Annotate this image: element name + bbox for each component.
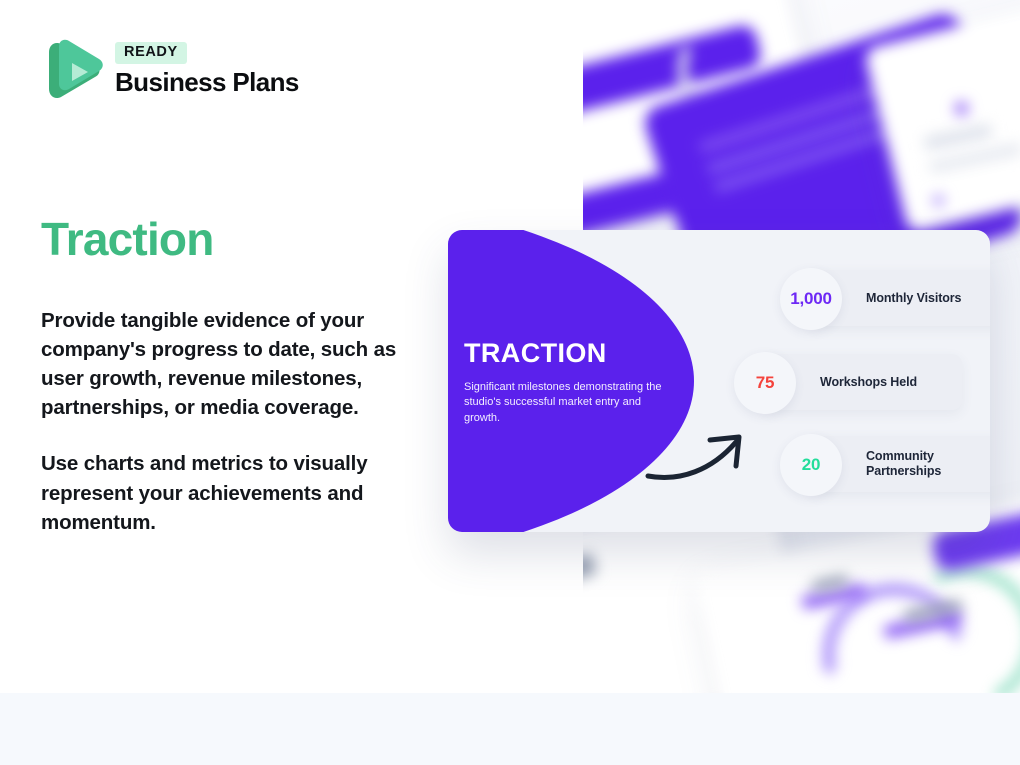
curved-arrow-up-right-icon <box>644 420 774 500</box>
stat-circle: 1,000 <box>780 268 842 330</box>
stat-label: Workshops Held <box>820 375 917 390</box>
stat-value: 75 <box>756 373 775 393</box>
traction-slide-card[interactable]: TRACTION Significant milestones demonstr… <box>448 230 990 532</box>
stat-label: Community Partnerships <box>866 449 941 479</box>
body-copy: Provide tangible evidence of your compan… <box>41 306 419 537</box>
purple-text-block: TRACTION Significant milestones demonstr… <box>464 340 674 426</box>
stat-circle: 20 <box>780 434 842 496</box>
stat-circle: 75 <box>734 352 796 414</box>
stat-label: Monthly Visitors <box>866 291 961 306</box>
bg-dot-decoration <box>955 102 968 115</box>
bg-dot-decoration <box>933 195 944 206</box>
body-paragraph-2: Use charts and metrics to visually repre… <box>41 449 419 536</box>
card-subtitle: Significant milestones demonstrating the… <box>464 380 674 426</box>
brand-logo-row[interactable]: READY Business Plans <box>41 36 299 102</box>
play-triangle-logo-icon <box>41 36 103 102</box>
bottom-band <box>0 693 1020 765</box>
ready-badge: READY <box>115 42 187 64</box>
brand-text: READY Business Plans <box>115 42 299 96</box>
brand-name: Business Plans <box>115 69 299 96</box>
body-paragraph-1: Provide tangible evidence of your compan… <box>41 306 419 422</box>
stat-value: 1,000 <box>790 289 832 309</box>
stat-value: 20 <box>802 455 821 475</box>
slide-canvas: READY Business Plans Traction Provide ta… <box>0 0 1020 765</box>
page-title: Traction <box>41 216 214 262</box>
card-title: TRACTION <box>464 340 674 367</box>
